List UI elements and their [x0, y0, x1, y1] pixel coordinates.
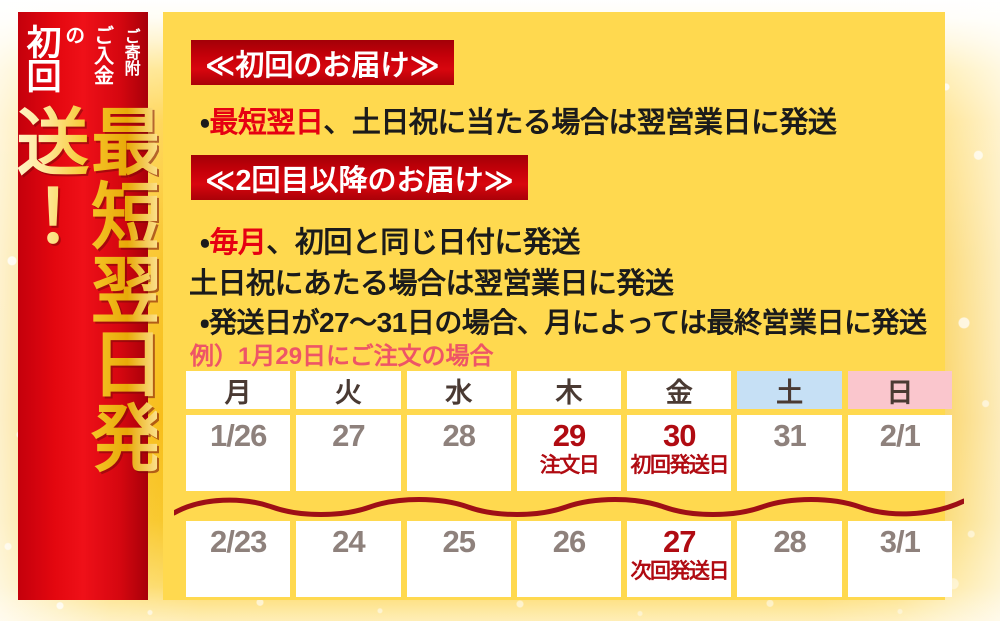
calendar-day-cell: 27次回発送日	[627, 521, 731, 597]
calendar-weekday-header: 月火水木金土日	[186, 371, 952, 409]
calendar-day-cell: 3/1	[848, 521, 952, 597]
banner-eyebrow-kifu: ご寄附	[118, 24, 142, 76]
first-delivery-bullet-1: ・最短翌日、土日祝に当たる場合は翌営業日に発送	[200, 99, 836, 141]
banner-headline: 最短翌日発送！	[9, 104, 158, 594]
body-text: 土日祝にあたる場合は翌営業日に発送	[189, 268, 674, 300]
body-text: 、初回と同じ日付に発送	[266, 227, 580, 259]
calendar-day-cell: 31	[737, 415, 841, 491]
calendar-weekday-火: 火	[296, 371, 400, 409]
calendar-day-number: 3/1	[880, 525, 920, 559]
calendar-day-number: 31	[773, 419, 805, 453]
body-text: 、土日祝に当たる場合は翌営業日に発送	[323, 107, 836, 139]
calendar-day-cell: 2/1	[848, 415, 952, 491]
calendar-day-cell: 29注文日	[517, 415, 621, 491]
calendar-day-cell: 26	[517, 521, 621, 597]
calendar-day-number: 29	[553, 419, 585, 453]
subsequent-delivery-line-2: 土日祝にあたる場合は翌営業日に発送	[189, 260, 674, 302]
calendar-day-cell: 24	[296, 521, 400, 597]
section-header-subsequent-delivery: ≪2回目以降のお届け≫	[191, 155, 528, 200]
shipping-schedule-graphic: ご寄附 ご入金の 初回 最短翌日発送！ ≪初回のお届け≫ ・最短翌日、土日祝に当…	[0, 0, 1000, 621]
calendar-day-cell: 28	[737, 521, 841, 597]
calendar-day-number: 27	[663, 525, 695, 559]
calendar-weekday-土: 土	[737, 371, 841, 409]
calendar-row-separator	[186, 491, 952, 521]
subsequent-delivery-bullet-2: ・発送日が27〜31日の場合、月によっては最終営業日に発送	[200, 301, 927, 341]
calendar-day-cell: 30初回発送日	[627, 415, 731, 491]
calendar-weekday-日: 日	[848, 371, 952, 409]
calendar: 月火水木金土日 1/26272829注文日30初回発送日312/1 2/2324…	[186, 371, 952, 597]
calendar-day-number: 2/1	[880, 419, 920, 453]
banner-eyebrow-group: ご寄附 ご入金の 初回	[23, 24, 143, 102]
calendar-day-cell: 28	[407, 415, 511, 491]
calendar-day-cell: 25	[407, 521, 511, 597]
calendar-weekday-木: 木	[517, 371, 621, 409]
body-text: 発送日が27〜31日の場合、月によっては最終営業日に発送	[209, 307, 927, 338]
calendar-day-number: 2/23	[210, 525, 266, 559]
bullet-dot: ・	[200, 227, 209, 259]
calendar-weekday-月: 月	[186, 371, 290, 409]
bullet-dot: ・	[200, 107, 209, 139]
section-header-first-delivery: ≪初回のお届け≫	[191, 40, 454, 85]
subsequent-delivery-bullet-1: ・毎月、初回と同じ日付に発送	[200, 219, 580, 261]
calendar-week-row: 1/26272829注文日30初回発送日312/1	[186, 415, 952, 491]
calendar-weekday-金: 金	[627, 371, 731, 409]
calendar-day-note: 初回発送日	[631, 454, 729, 478]
calendar-day-number: 24	[332, 525, 364, 559]
highlight-text: 最短翌日	[209, 107, 323, 139]
bullet-dot: ・	[200, 307, 209, 338]
calendar-weekday-水: 水	[407, 371, 511, 409]
calendar-day-number: 25	[442, 525, 474, 559]
calendar-day-cell: 1/26	[186, 415, 290, 491]
example-label: 例）1月29日にご注文の場合	[190, 336, 494, 371]
wavy-divider-icon	[174, 491, 964, 521]
calendar-day-note: 注文日	[540, 454, 599, 478]
banner-kicker-shokai: 初回	[24, 24, 57, 92]
calendar-day-number: 1/26	[210, 419, 266, 453]
calendar-day-number: 27	[332, 419, 364, 453]
calendar-day-number: 30	[663, 419, 695, 453]
calendar-week-row: 2/2324252627次回発送日283/1	[186, 521, 952, 597]
calendar-day-cell: 27	[296, 415, 400, 491]
calendar-day-number: 28	[773, 525, 805, 559]
calendar-day-number: 28	[442, 419, 474, 453]
banner-eyebrow-nyukin: ご入金の	[59, 24, 117, 102]
calendar-day-cell: 2/23	[186, 521, 290, 597]
highlight-text: 毎月	[209, 227, 266, 259]
vertical-red-banner: ご寄附 ご入金の 初回 最短翌日発送！	[18, 12, 148, 600]
calendar-day-note: 次回発送日	[631, 560, 729, 584]
calendar-day-number: 26	[553, 525, 585, 559]
